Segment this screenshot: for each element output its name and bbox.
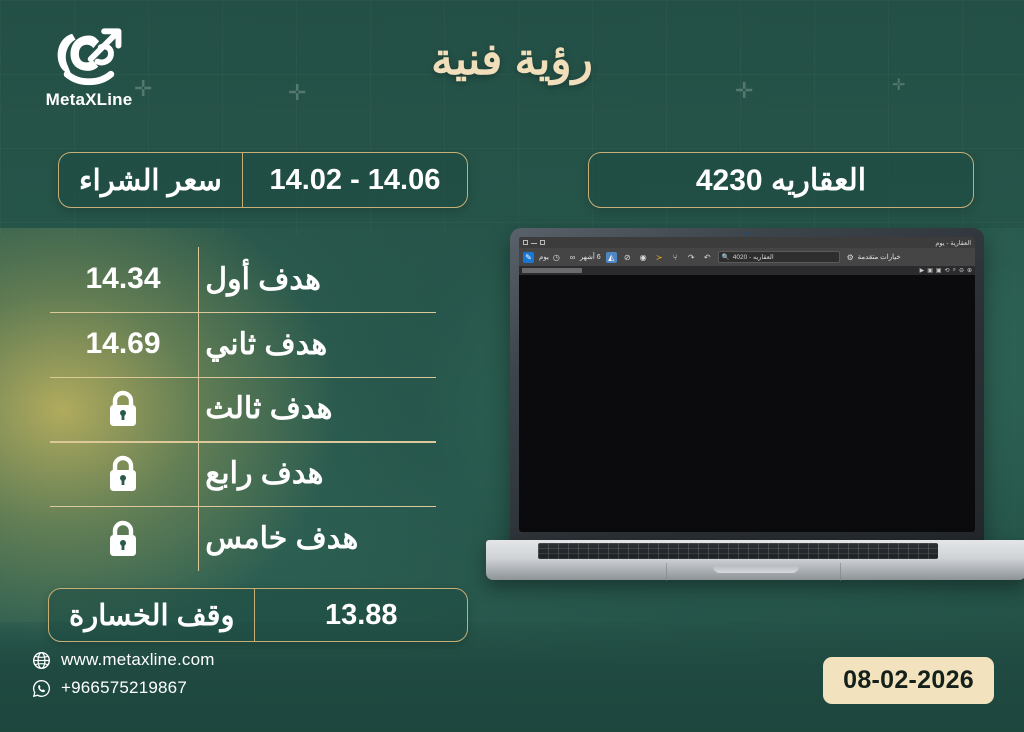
target-label: هدف ثالث: [199, 391, 438, 426]
webcam-dot: [746, 232, 749, 235]
column-divider: [198, 377, 199, 442]
redo-icon[interactable]: ↷: [686, 252, 697, 263]
column-divider: [198, 506, 199, 571]
sparkle-icon: ✛: [288, 82, 306, 104]
reset-icon[interactable]: ⟲: [945, 267, 950, 274]
target-value: 14.69: [48, 327, 198, 361]
buy-price-badge: سعر الشراء 14.06 - 14.02: [58, 152, 468, 208]
laptop-screen: العقارية - يوم ✎ ◷ يوم 6 أشهر: [519, 237, 975, 532]
target-value-locked: [48, 390, 198, 428]
clock-icon: ◷: [551, 252, 562, 263]
lock-icon: [106, 455, 140, 493]
zoom-reset-icon[interactable]: ⌕: [953, 267, 956, 274]
lock-icon: [106, 390, 140, 428]
app-window-title: العقارية - يوم: [935, 239, 971, 247]
date-badge: 08-02-2026: [823, 657, 994, 704]
contact-info: www.metaxline.com +966575219867: [32, 650, 215, 706]
targets-table: هدف أول 14.34 هدف ثاني 14.69 هدف ثالث هد: [48, 247, 438, 571]
phone-row[interactable]: +966575219867: [32, 678, 215, 698]
window-controls[interactable]: [523, 240, 545, 245]
buy-price-label: سعر الشراء: [59, 153, 242, 207]
poster-canvas: ✛ ✛ ✛ ✛ MetaXLine رؤية فنية العقاريه 423…: [0, 0, 1024, 732]
laptop-trackpad: [666, 563, 841, 581]
no-entry-icon[interactable]: ⊘: [622, 252, 633, 263]
app-toolbar[interactable]: ✎ ◷ يوم 6 أشهر ∞ ◭ ⊘ ◉ ≺ ⑂ ↷ ↶: [519, 248, 975, 266]
column-divider: [198, 441, 199, 506]
restore-icon[interactable]: [523, 240, 528, 245]
infinity-icon: ∞: [567, 252, 578, 263]
table-row: هدف ثاني 14.69: [48, 312, 438, 377]
laptop-mockup: العقارية - يوم ✎ ◷ يوم 6 أشهر: [486, 228, 1024, 588]
snapshot-icon[interactable]: ▣: [927, 267, 933, 274]
alert-icon[interactable]: ◉: [638, 252, 649, 263]
buy-price-value: 14.06 - 14.02: [242, 153, 467, 207]
stop-loss-badge: وقف الخسارة 13.88: [48, 588, 468, 642]
website-row[interactable]: www.metaxline.com: [32, 650, 215, 670]
target-value: 14.34: [48, 262, 198, 296]
copy-icon[interactable]: ▣: [936, 267, 942, 274]
undo-icon[interactable]: ↶: [702, 252, 713, 263]
play-icon[interactable]: ▶: [920, 267, 925, 274]
minimize-icon[interactable]: [531, 241, 537, 244]
table-row: هدف أول 14.34: [48, 247, 438, 312]
pencil-icon[interactable]: ✎: [523, 252, 534, 263]
column-divider: [198, 312, 199, 377]
zoom-out-icon[interactable]: ⊖: [959, 267, 964, 274]
stop-loss-label: وقف الخسارة: [49, 589, 254, 641]
indicator-icon[interactable]: ⑂: [670, 252, 681, 263]
table-row: هدف خامس: [48, 506, 438, 571]
target-value-locked: [48, 455, 198, 493]
maximize-icon[interactable]: [540, 240, 545, 245]
period-selector[interactable]: 6 أشهر ∞: [567, 252, 601, 263]
target-label: هدف أول: [199, 262, 438, 297]
target-value-locked: [48, 520, 198, 558]
app-status-bar[interactable]: ▶ ▣ ▣ ⟲ ⌕ ⊖ ⊕: [519, 266, 975, 275]
table-row: هدف ثالث: [48, 377, 438, 442]
laptop-lid: العقارية - يوم ✎ ◷ يوم 6 أشهر: [510, 228, 984, 546]
whatsapp-icon: [32, 679, 51, 698]
gear-icon: ⚙: [845, 252, 856, 263]
chart-type-icon[interactable]: ◭: [606, 252, 617, 263]
search-icon: 🔍: [722, 253, 730, 261]
website-text: www.metaxline.com: [61, 650, 215, 670]
compare-icon[interactable]: ≺: [654, 252, 665, 263]
search-value: العقاريه - 4020: [733, 253, 774, 261]
globe-icon: [32, 651, 51, 670]
page-title: رؤية فنية: [0, 34, 1024, 85]
symbol-badge: العقاريه 4230: [588, 152, 974, 208]
zoom-in-icon[interactable]: ⊕: [967, 267, 972, 274]
phone-text: +966575219867: [61, 678, 187, 698]
symbol-label: العقاريه 4230: [589, 153, 973, 207]
table-row: هدف رابع: [48, 441, 438, 506]
horizontal-scrollbar[interactable]: [522, 268, 582, 273]
stop-loss-value: 13.88: [254, 589, 467, 641]
brand-name: MetaXLine: [28, 90, 150, 110]
timeframe-day[interactable]: ◷ يوم: [539, 252, 562, 263]
target-label: هدف رابع: [199, 456, 438, 491]
target-label: هدف خامس: [199, 521, 438, 556]
search-input[interactable]: 🔍 العقاريه - 4020: [718, 251, 840, 263]
lock-icon: [106, 520, 140, 558]
app-title-bar: العقارية - يوم: [519, 237, 975, 248]
target-label: هدف ثاني: [199, 327, 438, 362]
laptop-keyboard: [538, 543, 938, 559]
column-divider: [198, 247, 199, 312]
advanced-options-button[interactable]: خيارات متقدمة ⚙: [845, 252, 901, 263]
